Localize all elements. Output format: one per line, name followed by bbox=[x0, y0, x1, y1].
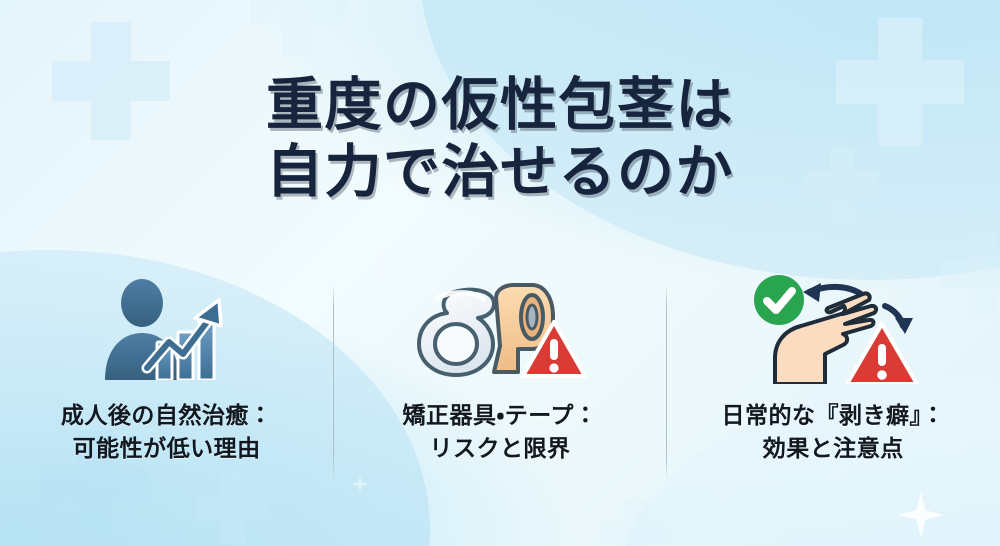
hand-check-warning-icon bbox=[745, 272, 921, 384]
right-arrow bbox=[885, 306, 913, 334]
column-natural-healing: 成人後の自然治癒： 可能性が低い理由 bbox=[0, 272, 333, 465]
infographic-canvas: 重度の仮性包茎は 自力で治せるのか bbox=[0, 0, 1000, 546]
feature-columns: 成人後の自然治癒： 可能性が低い理由 bbox=[0, 272, 1000, 465]
column-caption: 矯正器具・テープ： リスクと限界 bbox=[402, 400, 597, 465]
decorative-cross bbox=[600, 498, 670, 546]
sparkle-icon bbox=[898, 492, 944, 538]
sparkle-icon bbox=[352, 476, 368, 492]
decorative-cross bbox=[250, 0, 346, 56]
ring-tape-warning-icon bbox=[414, 272, 586, 384]
warning-triangle bbox=[847, 324, 917, 384]
column-caption: 日常的な『剥き癖』： 効果と注意点 bbox=[721, 400, 945, 465]
column-corrective-device-tape: 矯正器具・テープ： リスクと限界 bbox=[333, 272, 666, 465]
person-growth-chart-icon bbox=[97, 272, 237, 384]
page-title: 重度の仮性包茎は 自力で治せるのか bbox=[0, 72, 1000, 205]
decorative-cross bbox=[196, 470, 270, 544]
green-check bbox=[754, 275, 804, 325]
column-caption: 成人後の自然治癒： 可能性が低い理由 bbox=[61, 400, 273, 465]
corrective-ring bbox=[419, 290, 494, 375]
column-daily-retraction-habit: 日常的な『剥き癖』： 効果と注意点 bbox=[667, 272, 1000, 465]
